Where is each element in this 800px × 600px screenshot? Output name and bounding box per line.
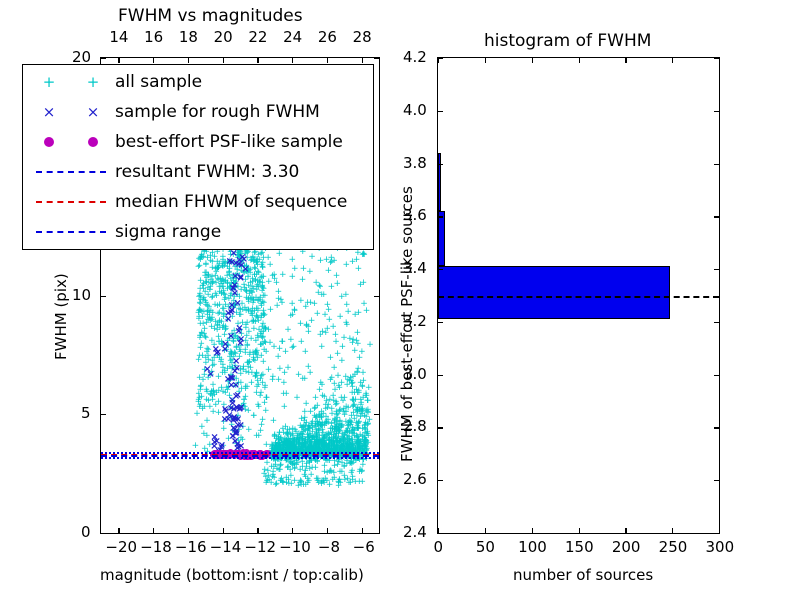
scatter-point-all: + (359, 394, 367, 402)
scatter-point-all: + (277, 434, 285, 442)
blue-dashed-line-glyph (36, 171, 106, 173)
scatter-point-all: + (326, 437, 334, 445)
legend-box[interactable]: ++all sample××sample for rough FWHMbest-… (22, 64, 374, 250)
scatter-point-all: + (352, 419, 360, 427)
scatter-point-all: + (311, 436, 319, 444)
scatter-point-all: + (198, 254, 206, 262)
scatter-point-all: + (224, 378, 232, 386)
scatter-point-all: + (307, 299, 315, 307)
scatter-point-all: + (289, 425, 297, 433)
scatter-point-all: + (315, 479, 323, 487)
scatter-point-all: + (227, 350, 235, 358)
scatter-point-all: + (298, 441, 306, 449)
scatter-point-all: + (250, 318, 258, 326)
scatter-point-all: + (345, 433, 353, 441)
scatter-point-all: + (245, 282, 253, 290)
scatter-point-all: + (287, 441, 295, 449)
scatter-point-all: + (361, 424, 369, 432)
scatter-point-all: + (333, 423, 341, 431)
left-xtick-bottom-5 (292, 528, 293, 533)
scatter-point-all: + (306, 439, 314, 447)
scatter-point-all: + (341, 476, 349, 484)
scatter-point-all: + (258, 283, 266, 291)
scatter-point-all: + (348, 469, 356, 477)
histogram-ytick-4 (438, 322, 443, 323)
scatter-point-all: + (219, 324, 227, 332)
scatter-point-all: + (272, 481, 280, 489)
scatter-point-all: + (335, 428, 343, 436)
scatter-point-all: + (337, 437, 345, 445)
scatter-point-all: + (312, 442, 320, 450)
scatter-point-all: + (250, 296, 258, 304)
scatter-point-all: + (304, 427, 312, 435)
scatter-point-all: + (276, 250, 284, 258)
scatter-point-all: + (263, 394, 271, 402)
scatter-point-all: + (199, 313, 207, 321)
histogram-ytick-2 (438, 427, 443, 428)
right-panel-title: histogram of FWHM (484, 33, 651, 50)
scatter-point-all: + (360, 377, 368, 385)
scatter-point-all: + (361, 421, 369, 429)
scatter-point-all: + (240, 281, 248, 289)
scatter-point-all: + (302, 400, 310, 408)
scatter-point-all: + (313, 442, 321, 450)
scatter-point-all: + (226, 265, 234, 273)
scatter-point-all: + (306, 458, 314, 466)
left-bottom-tick-4: −12 (244, 540, 276, 555)
scatter-point-all: + (286, 466, 294, 474)
scatter-point-all: + (338, 293, 346, 301)
scatter-point-all: + (314, 402, 322, 410)
scatter-point-all: + (202, 261, 210, 269)
scatter-point-all: + (343, 432, 351, 440)
scatter-point-all: + (361, 442, 369, 450)
scatter-point-all: + (318, 343, 326, 351)
scatter-point-all: + (239, 257, 247, 265)
scatter-point-all: + (206, 441, 214, 449)
scatter-point-all: + (311, 404, 319, 412)
x-marker-glyph: × (43, 105, 56, 119)
scatter-point-all: + (242, 268, 250, 276)
scatter-point-all: + (200, 308, 208, 316)
scatter-point-all: + (361, 440, 369, 448)
scatter-point-rough: × (231, 429, 239, 438)
scatter-point-all: + (227, 404, 235, 412)
scatter-point-rough: × (228, 258, 236, 267)
scatter-point-all: + (259, 298, 267, 306)
scatter-point-all: + (328, 410, 336, 418)
scatter-point-all: + (337, 423, 345, 431)
scatter-point-all: + (338, 379, 346, 387)
scatter-point-all: + (333, 272, 341, 280)
scatter-point-all: + (336, 406, 344, 414)
scatter-point-all: + (236, 258, 244, 266)
scatter-point-all: + (335, 478, 343, 486)
scatter-point-all: + (249, 299, 257, 307)
scatter-point-all: + (336, 438, 344, 446)
scatter-point-all: + (249, 275, 257, 283)
scatter-point-all: + (363, 307, 371, 315)
scatter-point-all: + (272, 444, 280, 452)
scatter-point-all: + (358, 399, 366, 407)
scatter-point-all: + (299, 276, 307, 284)
scatter-point-all: + (207, 252, 215, 260)
histogram-xtick-2 (532, 528, 533, 533)
scatter-point-all: + (345, 422, 353, 430)
scatter-point-all: + (287, 440, 295, 448)
scatter-point-all: + (240, 269, 248, 277)
histogram-xtick-1 (485, 528, 486, 533)
scatter-point-all: + (201, 297, 209, 305)
scatter-point-rough: × (232, 259, 240, 268)
scatter-point-all: + (308, 317, 316, 325)
scatter-point-all: + (331, 425, 339, 433)
legend-item-3[interactable]: resultant FWHM: 3.30 (27, 157, 373, 187)
scatter-point-all: + (244, 273, 252, 281)
scatter-point-all: + (248, 308, 256, 316)
scatter-point-rough: × (224, 415, 232, 424)
scatter-point-all: + (195, 255, 203, 263)
scatter-point-all: + (227, 292, 235, 300)
scatter-point-all: + (290, 460, 298, 468)
scatter-point-all: + (245, 296, 253, 304)
scatter-point-all: + (243, 249, 251, 257)
scatter-point-all: + (279, 478, 287, 486)
scatter-point-rough: × (232, 403, 240, 412)
scatter-point-all: + (309, 418, 317, 426)
scatter-point-all: + (224, 258, 232, 266)
scatter-point-all: + (272, 439, 280, 447)
scatter-point-all: + (345, 441, 353, 449)
scatter-point-all: + (360, 300, 368, 308)
scatter-point-all: + (316, 331, 324, 339)
scatter-point-all: + (284, 441, 292, 449)
scatter-point-all: + (250, 258, 258, 266)
scatter-point-all: + (201, 288, 209, 296)
scatter-point-all: + (325, 401, 333, 409)
scatter-point-all: + (357, 438, 365, 446)
scatter-point-all: + (197, 401, 205, 409)
scatter-point-all: + (349, 473, 357, 481)
scatter-point-all: + (203, 348, 211, 356)
scatter-point-all: + (197, 296, 205, 304)
scatter-point-all: + (358, 408, 366, 416)
scatter-point-rough: × (231, 415, 239, 424)
scatter-point-all: + (220, 287, 228, 295)
left-y-tick-3: 20 (72, 50, 91, 65)
scatter-point-all: + (315, 427, 323, 435)
scatter-point-all: + (277, 296, 285, 304)
scatter-point-rough: × (237, 403, 245, 412)
scatter-point-all: + (349, 403, 357, 411)
scatter-point-all: + (242, 385, 250, 393)
scatter-point-all: + (275, 295, 283, 303)
scatter-point-all: + (214, 265, 222, 273)
scatter-point-all: + (311, 405, 319, 413)
scatter-point-all: + (243, 332, 251, 340)
scatter-point-all: + (217, 280, 225, 288)
scatter-point-all: + (348, 440, 356, 448)
scatter-point-all: + (250, 257, 258, 265)
scatter-point-all: + (203, 432, 211, 440)
scatter-point-all: + (302, 440, 310, 448)
scatter-point-all: + (343, 429, 351, 437)
scatter-point-all: + (340, 405, 348, 413)
scatter-point-all: + (305, 328, 313, 336)
plus-marker: ++ (27, 75, 115, 89)
scatter-point-all: + (240, 396, 248, 404)
scatter-point-all: + (234, 320, 242, 328)
scatter-point-all: + (344, 404, 352, 412)
scatter-point-all: + (248, 288, 256, 296)
scatter-point-all: + (196, 403, 204, 411)
scatter-point-all: + (207, 257, 215, 265)
scatter-point-all: + (211, 301, 219, 309)
scatter-point-all: + (222, 277, 230, 285)
scatter-point-all: + (307, 439, 315, 447)
scatter-point-all: + (197, 386, 205, 394)
scatter-point-rough: × (228, 374, 236, 383)
scatter-point-all: + (330, 364, 338, 372)
scatter-point-all: + (215, 338, 223, 346)
scatter-point-all: + (242, 287, 250, 295)
scatter-point-rough: × (224, 375, 232, 384)
scatter-point-all: + (344, 376, 352, 384)
histogram-ytick-right-2 (714, 427, 719, 428)
scatter-point-all: + (290, 436, 298, 444)
left-bottom-tick-2: −16 (175, 540, 207, 555)
scatter-point-all: + (359, 436, 367, 444)
scatter-point-all: + (249, 305, 257, 313)
scatter-point-all: + (255, 269, 263, 277)
scatter-point-all: + (296, 437, 304, 445)
scatter-point-all: + (334, 421, 342, 429)
scatter-point-all: + (287, 431, 295, 439)
scatter-point-all: + (336, 437, 344, 445)
scatter-point-all: + (289, 443, 297, 451)
scatter-point-all: + (265, 476, 273, 484)
scatter-point-all: + (322, 432, 330, 440)
scatter-point-all: + (245, 307, 253, 315)
scatter-point-all: + (233, 343, 241, 351)
scatter-point-all: + (339, 343, 347, 351)
scatter-point-all: + (214, 264, 222, 272)
scatter-point-rough: × (227, 404, 235, 413)
scatter-point-all: + (307, 432, 315, 440)
scatter-point-all: + (360, 438, 368, 446)
scatter-point-all: + (313, 458, 321, 466)
scatter-point-all: + (220, 278, 228, 286)
scatter-point-all: + (365, 384, 373, 392)
scatter-point-all: + (239, 402, 247, 410)
blue-dashdot-line (27, 231, 115, 233)
scatter-point-all: + (358, 467, 366, 475)
scatter-point-rough: × (210, 442, 218, 451)
scatter-point-all: + (202, 301, 210, 309)
scatter-point-all: + (316, 432, 324, 440)
scatter-point-all: + (290, 436, 298, 444)
scatter-point-all: + (260, 470, 268, 478)
scatter-point-all: + (340, 436, 348, 444)
scatter-point-all: + (275, 443, 283, 451)
scatter-point-all: + (209, 258, 217, 266)
scatter-point-all: + (299, 436, 307, 444)
scatter-point-all: + (332, 426, 340, 434)
scatter-point-all: + (284, 440, 292, 448)
scatter-point-all: + (208, 388, 216, 396)
scatter-point-rough: × (231, 289, 239, 298)
scatter-point-all: + (291, 441, 299, 449)
scatter-point-all: + (220, 425, 228, 433)
scatter-point-all: + (359, 407, 367, 415)
blue-dashdot-line-glyph (36, 231, 106, 233)
scatter-point-all: + (218, 289, 226, 297)
scatter-point-all: + (242, 346, 250, 354)
scatter-point-all: + (260, 285, 268, 293)
scatter-point-all: + (197, 277, 205, 285)
scatter-point-all: + (253, 283, 261, 291)
scatter-point-all: + (258, 323, 266, 331)
scatter-point-all: + (196, 292, 204, 300)
scatter-point-all: + (227, 414, 235, 422)
scatter-point-all: + (223, 384, 231, 392)
scatter-point-all: + (363, 437, 371, 445)
scatter-point-all: + (253, 271, 261, 279)
scatter-point-all: + (288, 460, 296, 468)
scatter-point-all: + (350, 409, 358, 417)
scatter-point-all: + (230, 333, 238, 341)
scatter-point-all: + (314, 418, 322, 426)
scatter-point-all: + (320, 442, 328, 450)
scatter-point-all: + (211, 253, 219, 261)
scatter-point-all: + (219, 283, 227, 291)
scatter-point-all: + (346, 428, 354, 436)
scatter-point-all: + (237, 342, 245, 350)
scatter-point-all: + (282, 430, 290, 438)
scatter-point-all: + (360, 442, 368, 450)
scatter-point-all: + (229, 274, 237, 282)
scatter-point-all: + (324, 404, 332, 412)
scatter-point-all: + (318, 432, 326, 440)
scatter-point-all: + (253, 347, 261, 355)
scatter-point-all: + (206, 315, 214, 323)
scatter-point-all: + (197, 340, 205, 348)
scatter-point-all: + (354, 425, 362, 433)
scatter-point-all: + (318, 408, 326, 416)
histogram-x-tick-0: 0 (434, 540, 444, 555)
scatter-point-all: + (360, 443, 368, 451)
scatter-point-all: + (257, 375, 265, 383)
scatter-point-all: + (249, 312, 257, 320)
scatter-point-all: + (341, 462, 349, 470)
scatter-point-all: + (354, 249, 362, 257)
scatter-point-all: + (349, 442, 357, 450)
scatter-point-all: + (299, 428, 307, 436)
histogram-ytick-right-1 (714, 480, 719, 481)
scatter-point-all: + (333, 425, 341, 433)
scatter-point-all: + (327, 259, 335, 267)
scatter-point-all: + (303, 419, 311, 427)
histogram-ytick-right-6 (714, 216, 719, 217)
scatter-point-rough: × (232, 357, 240, 366)
scatter-point-all: + (198, 423, 206, 431)
scatter-point-all: + (317, 257, 325, 265)
scatter-point-all: + (299, 463, 307, 471)
scatter-point-all: + (199, 282, 207, 290)
scatter-point-all: + (330, 442, 338, 450)
scatter-point-all: + (196, 332, 204, 340)
scatter-point-all: + (282, 423, 290, 431)
histogram-xtick-top-2 (532, 58, 533, 63)
scatter-point-all: + (209, 249, 217, 257)
scatter-point-all: + (270, 417, 278, 425)
scatter-point-all: + (343, 301, 351, 309)
scatter-point-all: + (259, 340, 267, 348)
scatter-point-all: + (252, 277, 260, 285)
scatter-point-all: + (333, 438, 341, 446)
scatter-point-all: + (231, 349, 239, 357)
scatter-point-all: + (335, 458, 343, 466)
scatter-point-all: + (313, 418, 321, 426)
scatter-point-all: + (353, 256, 361, 264)
left-ytick-right-0 (374, 533, 379, 534)
legend-item-1[interactable]: ××sample for rough FWHM (27, 97, 373, 127)
scatter-point-all: + (320, 410, 328, 418)
scatter-point-all: + (315, 427, 323, 435)
scatter-point-all: + (285, 438, 293, 446)
legend-item-4[interactable]: median FHWM of sequence (27, 187, 373, 217)
scatter-point-all: + (346, 460, 354, 468)
scatter-point-all: + (343, 427, 351, 435)
scatter-point-rough: × (226, 257, 234, 266)
scatter-point-all: + (346, 444, 354, 452)
scatter-point-all: + (252, 318, 260, 326)
scatter-point-all: + (215, 373, 223, 381)
scatter-point-all: + (331, 428, 339, 436)
scatter-point-all: + (260, 254, 268, 262)
scatter-point-all: + (260, 273, 268, 281)
legend-item-5[interactable]: sigma range (27, 217, 373, 247)
legend-item-0[interactable]: ++all sample (27, 67, 373, 97)
legend-item-2[interactable]: best-effort PSF-like sample (27, 127, 373, 157)
scatter-point-rough: × (232, 392, 240, 401)
scatter-point-all: + (302, 303, 310, 311)
scatter-point-all: + (291, 443, 299, 451)
scatter-point-all: + (236, 346, 244, 354)
scatter-point-all: + (230, 280, 238, 288)
scatter-point-all: + (362, 440, 370, 448)
scatter-point-all: + (349, 442, 357, 450)
scatter-point-all: + (226, 257, 234, 265)
scatter-point-all: + (253, 259, 261, 267)
scatter-point-all: + (257, 294, 265, 302)
scatter-point-all: + (276, 345, 284, 353)
left-xtick-bottom-7 (362, 528, 363, 533)
scatter-point-all: + (295, 435, 303, 443)
scatter-point-rough: × (228, 432, 236, 441)
scatter-point-all: + (232, 382, 240, 390)
scatter-point-all: + (278, 299, 286, 307)
scatter-point-all: + (354, 389, 362, 397)
scatter-point-rough: × (203, 365, 211, 374)
scatter-point-all: + (304, 441, 312, 449)
scatter-point-all: + (253, 305, 261, 313)
scatter-point-all: + (219, 263, 227, 271)
histogram-xtick-top-3 (579, 58, 580, 63)
scatter-point-rough: × (227, 373, 235, 382)
scatter-point-all: + (337, 443, 345, 451)
scatter-point-rough: × (228, 399, 236, 408)
